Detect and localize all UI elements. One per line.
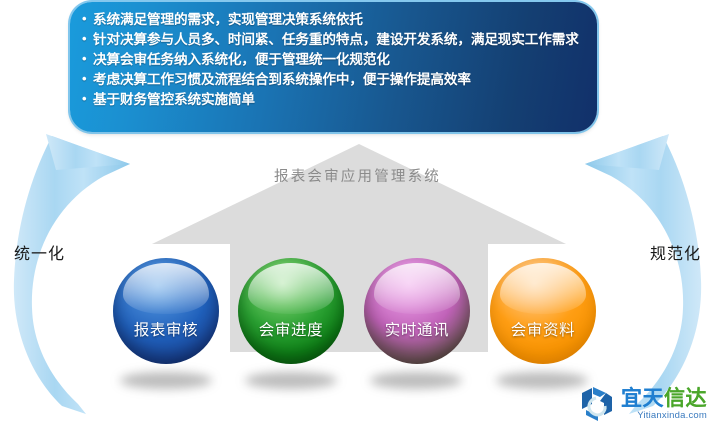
benefits-callout: 系统满足管理的需求，实现管理决策系统依托 针对决算参与人员多、时间紧、任务重的特… bbox=[70, 2, 597, 132]
slide-canvas: 统一化 规范化 报表会审应用管理系统 报表审核 会审进度 实时通讯 会审资料 系… bbox=[0, 0, 715, 428]
left-arrow-label: 统一化 bbox=[14, 240, 65, 264]
sphere-shadow bbox=[120, 372, 212, 389]
right-arrow-label: 规范化 bbox=[650, 240, 701, 264]
sphere-report-review[interactable]: 报表审核 bbox=[113, 258, 219, 364]
sphere-shadow bbox=[370, 372, 462, 389]
right-curved-arrow bbox=[573, 128, 703, 418]
list-item: 考虑决算工作习惯及流程结合到系统操作中，便于操作提高效率 bbox=[82, 70, 583, 90]
logo-name-part1: 宜天 bbox=[621, 387, 664, 410]
left-curved-arrow bbox=[12, 128, 142, 418]
sphere-shadow bbox=[245, 372, 337, 389]
sphere-gloss-icon bbox=[123, 263, 210, 314]
sphere-shadow bbox=[496, 372, 588, 389]
logo-domain: Yitianxinda.com bbox=[621, 411, 707, 421]
list-item: 系统满足管理的需求，实现管理决策系统依托 bbox=[82, 10, 583, 30]
sphere-label: 实时通讯 bbox=[364, 318, 470, 340]
list-item: 针对决算参与人员多、时间紧、任务重的特点，建设开发系统，满足现实工作需求 bbox=[82, 30, 583, 50]
sphere-gloss-icon bbox=[248, 263, 335, 314]
sphere-label: 报表审核 bbox=[113, 318, 219, 340]
logo-company-name: 宜天信达 bbox=[621, 388, 707, 409]
logo-mark-icon bbox=[576, 384, 618, 424]
sphere-gloss-icon bbox=[374, 263, 461, 314]
sphere-label: 会审进度 bbox=[238, 318, 344, 340]
sphere-review-materials[interactable]: 会审资料 bbox=[490, 258, 596, 364]
sphere-gloss-icon bbox=[500, 263, 587, 314]
benefits-list: 系统满足管理的需求，实现管理决策系统依托 针对决算参与人员多、时间紧、任务重的特… bbox=[82, 10, 583, 110]
list-item: 决算会审任务纳入系统化，便于管理统一化规范化 bbox=[82, 50, 583, 70]
logo-name-part2: 信达 bbox=[664, 387, 707, 410]
sphere-review-progress[interactable]: 会审进度 bbox=[238, 258, 344, 364]
list-item: 基于财务管控系统实施简单 bbox=[82, 90, 583, 110]
sphere-label: 会审资料 bbox=[490, 318, 596, 340]
logo-text: 宜天信达 Yitianxinda.com bbox=[621, 388, 707, 421]
company-logo: 宜天信达 Yitianxinda.com bbox=[576, 384, 707, 424]
sphere-realtime-comm[interactable]: 实时通讯 bbox=[364, 258, 470, 364]
